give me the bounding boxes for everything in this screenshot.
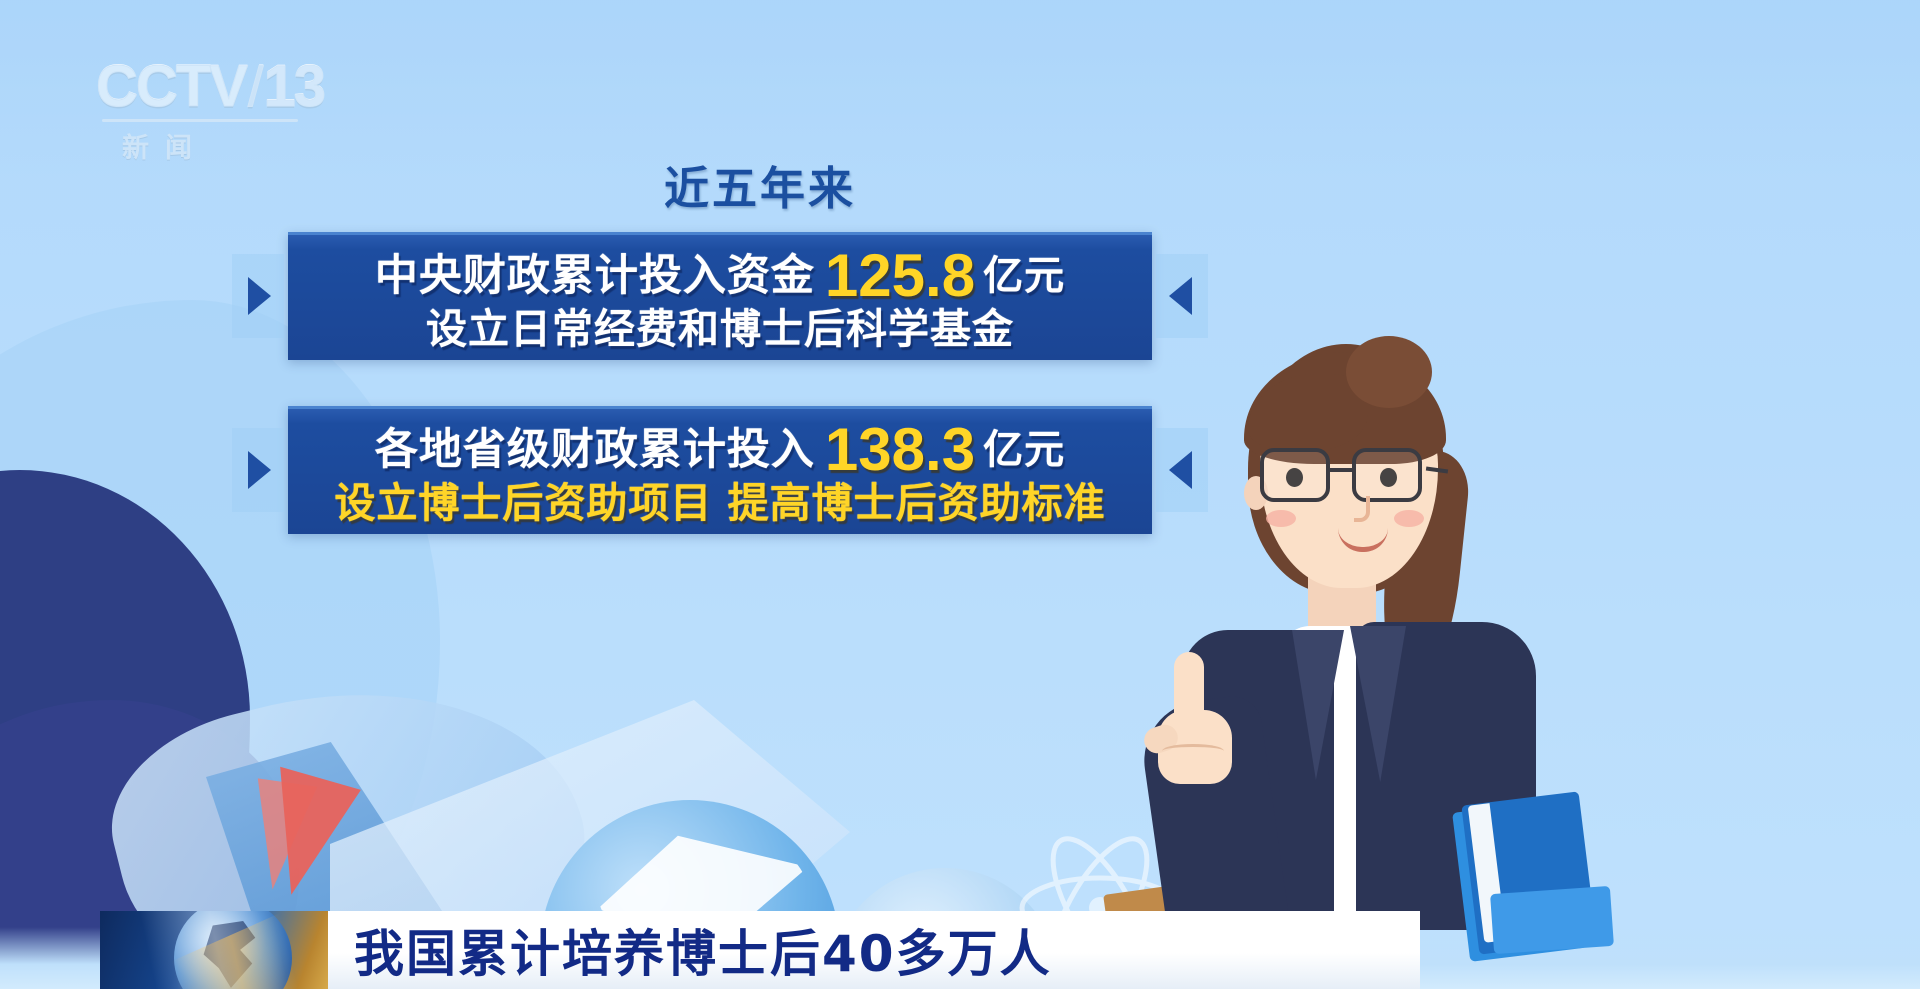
presenter-cheek-right bbox=[1394, 510, 1424, 527]
presenter-knuckles bbox=[1162, 744, 1224, 758]
presenter-hair-bun bbox=[1346, 336, 1432, 408]
stat-banner-2: 各地省级财政累计投入 138.3 亿元 设立博士后资助项目 提高博士后资助标准 bbox=[288, 406, 1152, 534]
stat-banner-2-prefix: 各地省级财政累计投入 bbox=[375, 426, 815, 474]
channel-logo: CCTV / 13 新闻 bbox=[96, 58, 326, 162]
channel-logo-divider bbox=[102, 119, 298, 122]
glasses-icon bbox=[1258, 448, 1438, 504]
stat-banner-1-line-1: 中央财政累计投入资金 125.8 亿元 bbox=[288, 249, 1152, 303]
presenter-cheek-left bbox=[1266, 510, 1296, 527]
stat-banner-1-unit: 亿元 bbox=[983, 254, 1065, 299]
chevron-right-icon bbox=[232, 428, 284, 512]
presenter-nose bbox=[1354, 496, 1370, 522]
glasses-lens-left bbox=[1260, 448, 1330, 502]
glasses-lens-right bbox=[1352, 448, 1422, 502]
stat-banner-row-2: 各地省级财政累计投入 138.3 亿元 设立博士后资助项目 提高博士后资助标准 bbox=[232, 406, 1208, 534]
channel-logo-cctv: CCTV bbox=[96, 58, 246, 116]
stat-banner-1-line-2: 设立日常经费和博士后科学基金 bbox=[288, 307, 1152, 353]
channel-logo-subtitle: 新闻 bbox=[122, 126, 326, 165]
channel-logo-wordmark: CCTV / 13 bbox=[96, 58, 326, 116]
infographic-kicker: 近五年来 bbox=[600, 152, 920, 217]
channel-logo-number: 13 bbox=[263, 58, 324, 116]
stat-banner-1-prefix: 中央财政累计投入资金 bbox=[375, 252, 815, 300]
lower-third-title-panel: 我国累计培养博士后40多万人 bbox=[328, 911, 1420, 989]
news-headline: 我国累计培养博士后40多万人 bbox=[354, 914, 1052, 986]
presenter-pointing-hand bbox=[1144, 652, 1240, 784]
chevron-right-icon bbox=[232, 254, 284, 338]
presenter-book-secondary bbox=[1490, 886, 1614, 954]
stat-banner-2-unit: 亿元 bbox=[983, 428, 1065, 473]
presenter-illustration bbox=[1140, 330, 1610, 930]
stat-banner-2-value: 138.3 bbox=[825, 423, 975, 477]
lower-third-bar: 我国累计培养博士后40多万人 bbox=[100, 911, 1420, 989]
stat-banner-1-value: 125.8 bbox=[825, 249, 975, 303]
glasses-bridge bbox=[1328, 468, 1356, 472]
chevron-left-icon bbox=[1156, 254, 1208, 338]
stat-banner-1: 中央财政累计投入资金 125.8 亿元 设立日常经费和博士后科学基金 bbox=[288, 232, 1152, 360]
stat-banner-2-line-1: 各地省级财政累计投入 138.3 亿元 bbox=[288, 423, 1152, 477]
broadcast-frame: CCTV / 13 新闻 近五年来 中央财政累计投入资金 125.8 亿元 设立… bbox=[0, 0, 1920, 989]
globe-icon bbox=[100, 911, 328, 989]
stat-banner-row-1: 中央财政累计投入资金 125.8 亿元 设立日常经费和博士后科学基金 bbox=[232, 232, 1208, 360]
channel-logo-slash: / bbox=[248, 59, 262, 115]
stat-banner-2-line-2: 设立博士后资助项目 提高博士后资助标准 bbox=[288, 481, 1152, 527]
